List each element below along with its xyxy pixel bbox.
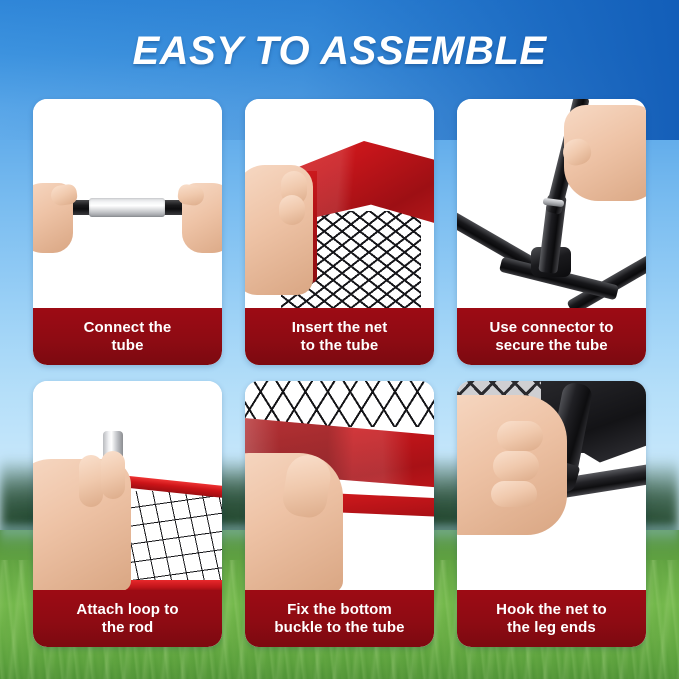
step-caption-1-line-2: tube bbox=[84, 337, 172, 355]
photo-use-connector-illustration bbox=[457, 99, 646, 308]
step-photo-1 bbox=[33, 99, 222, 308]
step-card-2: Insert the net to the tube bbox=[245, 99, 434, 365]
step-caption-1: Connect the tube bbox=[33, 308, 222, 365]
step-photo-4 bbox=[33, 381, 222, 590]
black-netting bbox=[125, 491, 222, 590]
steps-grid: Connect the tube Insert bbox=[33, 99, 646, 647]
step-caption-2: Insert the net to the tube bbox=[245, 308, 434, 365]
step-caption-6-line-2: the leg ends bbox=[496, 619, 607, 637]
step-card-6: Hook the net to the leg ends bbox=[457, 381, 646, 647]
step-card-1: Connect the tube bbox=[33, 99, 222, 365]
step-caption-2-line-2: to the tube bbox=[292, 337, 388, 355]
step-card-3: Use connector to secure the tube bbox=[457, 99, 646, 365]
step-photo-6 bbox=[457, 381, 646, 590]
step-caption-3-line-1: Use connector to bbox=[489, 319, 613, 337]
photo-connect-tube-illustration bbox=[33, 99, 222, 308]
step-card-5: Fix the bottom buckle to the tube bbox=[245, 381, 434, 647]
step-caption-5-line-1: Fix the bottom bbox=[274, 601, 404, 619]
middle-finger bbox=[493, 451, 539, 481]
step-caption-2-line-1: Insert the net bbox=[292, 319, 388, 337]
black-netting bbox=[245, 381, 434, 427]
step-caption-6: Hook the net to the leg ends bbox=[457, 590, 646, 647]
step-photo-2 bbox=[245, 99, 434, 308]
step-caption-3: Use connector to secure the tube bbox=[457, 308, 646, 365]
step-caption-3-line-2: secure the tube bbox=[489, 337, 613, 355]
photo-attach-loop-illustration bbox=[33, 381, 222, 590]
step-photo-3 bbox=[457, 99, 646, 308]
assembly-instructions-poster: EASY TO ASSEMBLE Connect the tube bbox=[0, 0, 679, 679]
step-caption-1-line-1: Connect the bbox=[84, 319, 172, 337]
step-caption-5: Fix the bottom buckle to the tube bbox=[245, 590, 434, 647]
step-photo-5 bbox=[245, 381, 434, 590]
index-finger bbox=[79, 455, 103, 507]
middle-finger bbox=[101, 451, 125, 499]
photo-hook-net-illustration bbox=[457, 381, 646, 590]
step-caption-4-line-1: Attach loop to bbox=[76, 601, 178, 619]
step-caption-4-line-2: the rod bbox=[76, 619, 178, 637]
step-caption-5-line-2: buckle to the tube bbox=[274, 619, 404, 637]
page-title: EASY TO ASSEMBLE bbox=[0, 27, 679, 75]
photo-insert-net-illustration bbox=[245, 99, 434, 308]
step-caption-6-line-1: Hook the net to bbox=[496, 601, 607, 619]
step-caption-4: Attach loop to the rod bbox=[33, 590, 222, 647]
metal-connector-sleeve bbox=[89, 198, 165, 217]
index-finger bbox=[497, 421, 543, 451]
step-card-4: Attach loop to the rod bbox=[33, 381, 222, 647]
middle-finger bbox=[279, 195, 305, 225]
photo-fix-buckle-illustration bbox=[245, 381, 434, 590]
ring-finger bbox=[491, 481, 537, 507]
